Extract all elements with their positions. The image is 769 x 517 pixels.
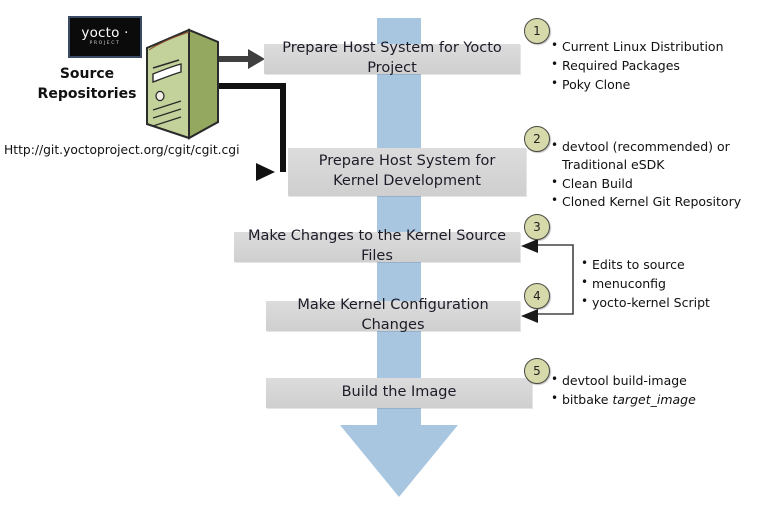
note-item: devtool build-image [550,372,765,390]
notes-list: Edits to sourcemenuconfigyocto-kernel Sc… [580,256,765,311]
step-number-5: 5 [524,358,550,384]
notes-step-2: devtool (recommended) or Traditional eSD… [550,138,768,212]
note-item: Required Packages [550,57,765,75]
notes-steps-3-and-4: Edits to sourcemenuconfigyocto-kernel Sc… [580,256,765,312]
note-item: Current Linux Distribution [550,38,765,56]
note-item: Clean Build [550,175,768,193]
notes-list: Current Linux DistributionRequired Packa… [550,38,765,93]
note-item: Poky Clone [550,76,765,94]
source-repositories-label: Source Repositories [28,64,146,105]
process-box-build-image[interactable]: Build the Image [266,378,532,408]
process-box-label: Make Kernel Configuration Changes [266,296,520,335]
step-number-1: 1 [524,18,550,44]
notes-list: devtool (recommended) or Traditional eSD… [550,138,768,211]
process-box-label: Build the Image [332,383,467,403]
workflow-diagram: yocto · PROJECT Source Repositories Http… [0,0,769,517]
note-item: devtool (recommended) or Traditional eSD… [550,138,768,174]
process-box-prepare-host-yocto[interactable]: Prepare Host System for Yocto Project [264,44,520,74]
note-item: menuconfig [580,275,765,293]
notes-step-5: devtool build-imagebitbake target_image [550,372,765,410]
note-item-emphasis: target_image [612,392,695,407]
step-number-4: 4 [524,283,550,309]
notes-list: devtool build-imagebitbake target_image [550,372,765,409]
step-number-3: 3 [524,214,550,240]
note-item: Cloned Kernel Git Repository [550,193,768,211]
logo-subtext: PROJECT [89,42,120,47]
process-box-make-kernel-source-changes[interactable]: Make Changes to the Kernel Source Files [234,232,520,262]
yocto-project-logo: yocto · PROJECT [68,16,142,58]
process-box-label: Prepare Host System for Yocto Project [264,39,520,78]
logo-wordmark: yocto · [81,27,128,41]
process-box-prepare-host-kernel[interactable]: Prepare Host System for Kernel Developme… [288,148,526,196]
server-tower-icon [133,26,223,144]
notes-step-1: Current Linux DistributionRequired Packa… [550,38,765,94]
process-box-label: Prepare Host System for Kernel Developme… [288,152,526,191]
note-item: bitbake target_image [550,391,765,409]
source-repository-url: Http://git.yoctoproject.org/cgit/cgit.cg… [4,143,232,157]
note-item: yocto-kernel Script [580,294,765,312]
step-number-2: 2 [524,126,550,152]
process-box-make-config-changes[interactable]: Make Kernel Configuration Changes [266,301,520,331]
note-item: Edits to source [580,256,765,274]
process-box-label: Make Changes to the Kernel Source Files [234,227,520,266]
